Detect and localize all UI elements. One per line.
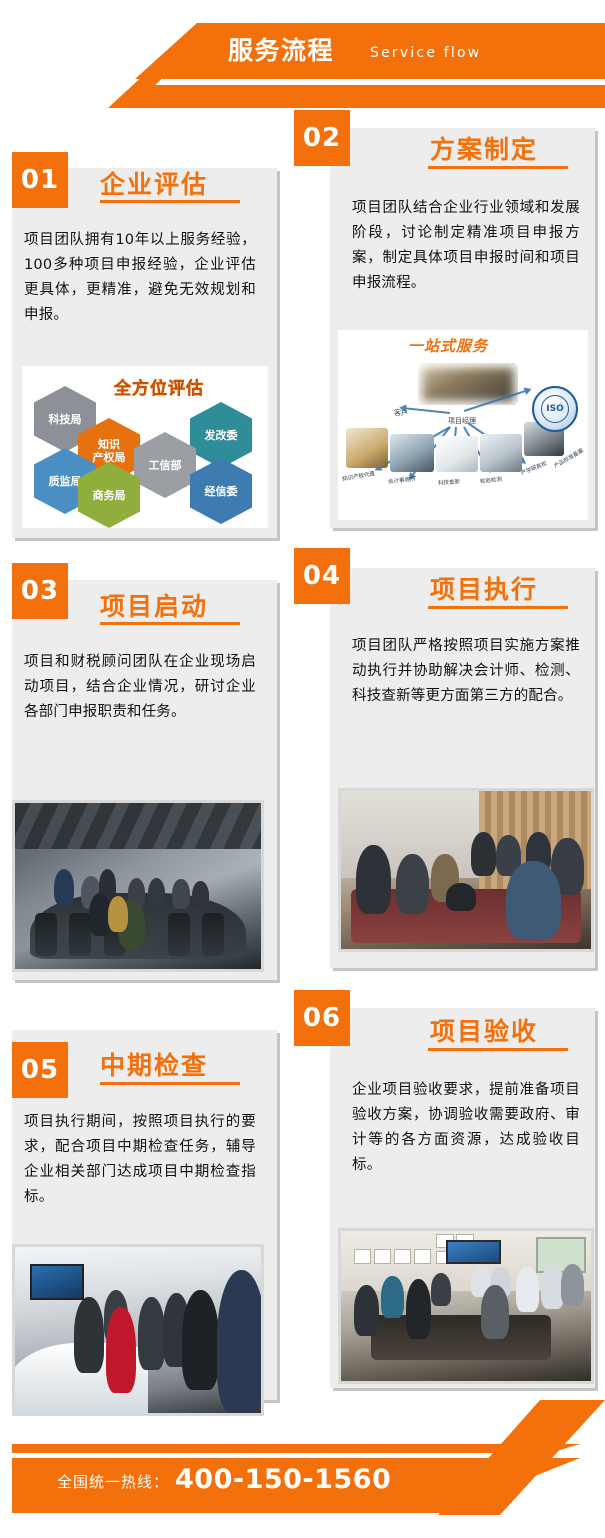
- card-03-body: 项目和财税顾问团队在企业现场启动项目，结合企业情况，研讨企业各部门申报职责和任务…: [24, 650, 256, 725]
- header-underbar: [128, 85, 605, 108]
- oss-node-photo-2: [390, 434, 434, 472]
- photo-table: [371, 1315, 551, 1360]
- photo-chair: [168, 913, 190, 956]
- photo-person: [138, 1297, 165, 1370]
- photo-person: [406, 1279, 431, 1339]
- photo-acceptance-meeting: [338, 1228, 594, 1384]
- oss-node-photo-1: [346, 428, 388, 468]
- card-04-badge: 04: [294, 548, 350, 604]
- page-title: 服务流程: [228, 34, 334, 68]
- hex-node-gongxin: 工信部: [134, 432, 196, 498]
- card-06-body: 企业项目验收要求，提前准备项目验收方案，协调验收需要政府、审计等的各方面资源，达…: [352, 1078, 580, 1178]
- photo-certificate: [394, 1249, 412, 1264]
- photo-person: [74, 1297, 104, 1373]
- photo-person: [431, 1273, 451, 1306]
- oss-label-3: 科技查新: [438, 477, 461, 487]
- photo-person: [217, 1270, 264, 1413]
- photo-ceiling: [15, 803, 261, 849]
- photo-person: [148, 878, 165, 908]
- card-02-title-rule: [428, 166, 568, 169]
- photo-chair: [202, 913, 224, 956]
- card-03-title-rule: [100, 622, 240, 625]
- infographic-page: 服务流程 Service flow 01 企业评估 项目团队拥有10年以上服务经…: [0, 0, 605, 1538]
- card-03-title: 项目启动: [100, 587, 208, 623]
- card-01-title-rule: [100, 200, 240, 203]
- photo-person: [561, 1264, 584, 1306]
- photo-person: [356, 845, 391, 915]
- card-05-title: 中期检查: [100, 1046, 208, 1082]
- photo-chair: [35, 913, 57, 956]
- header-banner: 服务流程 Service flow: [0, 0, 605, 108]
- card-01-title: 企业评估: [100, 165, 208, 201]
- photo-certificate: [414, 1249, 432, 1264]
- card-02-title: 方案制定: [430, 130, 538, 166]
- photo-person: [506, 861, 561, 940]
- card-04-title: 项目执行: [430, 570, 538, 606]
- photo-display-screen: [30, 1264, 84, 1301]
- photo-person: [182, 1290, 219, 1390]
- photo-person: [108, 896, 128, 933]
- photo-person: [172, 879, 189, 909]
- hotline-label: 全国统一热线：: [57, 1471, 169, 1492]
- footer-banner: 全国统一热线： 400-150-1560: [0, 1400, 605, 1538]
- oss-node-photo-3: [436, 436, 478, 472]
- oss-node-photo-4: [480, 434, 522, 472]
- oss-label-4: 检验检测: [480, 475, 503, 485]
- card-05-body: 项目执行期间，按照项目执行的要求，配合项目中期检查任务，辅导企业相关部门达成项目…: [24, 1110, 256, 1210]
- photo-person: [516, 1267, 539, 1312]
- photo-certificate: [374, 1249, 392, 1264]
- photo-tv-screen: [446, 1240, 501, 1264]
- photo-chair: [69, 913, 91, 956]
- photo-person: [192, 881, 209, 909]
- card-04-body: 项目团队严格按照项目实施方案推动执行并协助解决会计师、检测、科技查新等更方面第三…: [352, 634, 580, 709]
- oss-label-2: 会计事务所: [388, 475, 416, 486]
- photo-office-meeting: [338, 788, 594, 952]
- card-01-badge: 01: [12, 152, 68, 208]
- card-06-title: 项目验收: [430, 1012, 538, 1048]
- photo-person: [396, 854, 429, 914]
- hex-diagram: 全方位评估 科技局 知识 产权局 发改委 质监局 工信部 商务局 经信委: [22, 366, 268, 528]
- card-02-badge: 02: [294, 110, 350, 166]
- card-06-title-rule: [428, 1048, 568, 1051]
- iso-seal-icon: ISO: [532, 386, 578, 432]
- card-05-title-rule: [100, 1082, 240, 1085]
- hex-node-jingxin: 经信委: [190, 458, 252, 524]
- oss-arrow-client: [404, 407, 450, 414]
- photo-person: [481, 1285, 509, 1339]
- card-06-badge: 06: [294, 990, 350, 1046]
- hex-diagram-title: 全方位评估: [114, 374, 204, 399]
- photo-person-red-coat: [106, 1307, 136, 1393]
- photo-person: [54, 869, 74, 906]
- card-05-badge: 05: [12, 1042, 68, 1098]
- one-stop-service-title: 一站式服务: [408, 335, 488, 356]
- photo-person: [354, 1285, 379, 1336]
- photo-person: [381, 1276, 404, 1318]
- oss-label-1: 知识产权代理: [342, 469, 376, 483]
- iso-seal-label: ISO: [541, 395, 570, 424]
- photo-conference-room: [12, 800, 264, 972]
- card-02-body: 项目团队结合企业行业领域和发展阶段，讨论制定精准项目申报方案，制定具体项目申报时…: [352, 196, 580, 296]
- page-subtitle: Service flow: [370, 43, 481, 63]
- photo-certificate: [354, 1249, 372, 1264]
- photo-reception-lobby: [12, 1244, 264, 1416]
- hotline-number[interactable]: 400-150-1560: [175, 1464, 391, 1495]
- card-04-title-rule: [428, 606, 568, 609]
- photo-laptop: [446, 883, 476, 911]
- footer-thin-bar: [12, 1444, 580, 1453]
- one-stop-service-diagram: 一站式服务 客户 项目经理 ISO 知识产权代理 会计事务所 科技查新 检验检测…: [338, 330, 588, 520]
- card-01-body: 项目团队拥有10年以上服务经验，100多种项目申报经验，企业评估更具体，更精准，…: [24, 228, 256, 328]
- card-03-badge: 03: [12, 563, 68, 619]
- photo-person: [471, 832, 496, 876]
